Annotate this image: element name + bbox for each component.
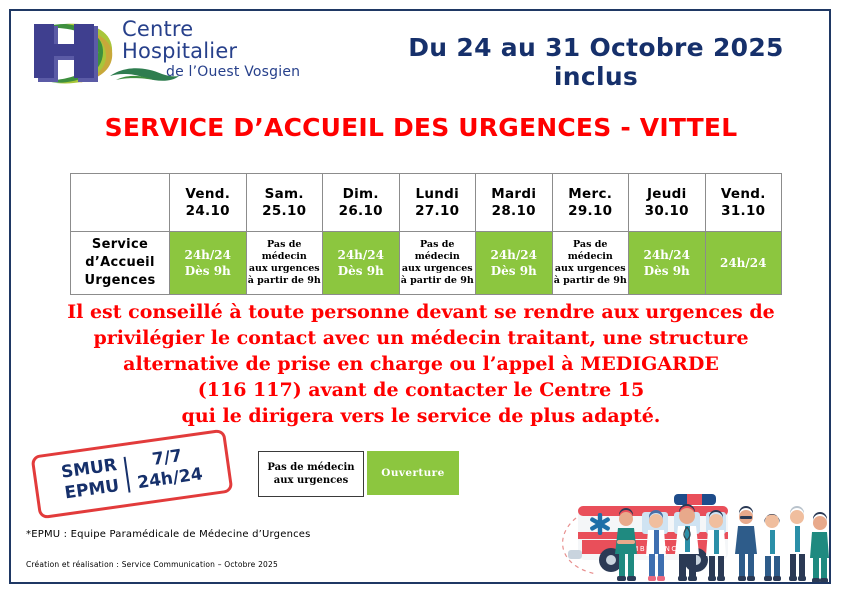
poster-page: Centre Hospitalier de l’Ouest Vosgien Du… xyxy=(0,0,842,595)
advisory-line: Il est conseillé à toute personne devant… xyxy=(30,299,812,325)
day-header-cell: Dim. 26.10 xyxy=(323,174,400,232)
cell-line: Dès 9h xyxy=(476,263,552,279)
cell-line: Dès 9h xyxy=(323,263,399,279)
cell-line: à partir de 9h xyxy=(400,275,476,287)
cell-line: à partir de 9h xyxy=(553,275,629,287)
schedule-body: Service d’Accueil Urgences 24h/24 Dès 9h… xyxy=(71,232,782,295)
day-date: 24.10 xyxy=(170,203,246,220)
schedule-cell-open: 24h/24 Dès 9h xyxy=(170,232,247,295)
day-name: Mardi xyxy=(476,186,552,203)
cell-line: 24h/24 xyxy=(323,247,399,263)
row-header-cell: Service d’Accueil Urgences xyxy=(71,232,170,295)
legend-closed-swatch: Pas de médecin aux urgences xyxy=(258,451,364,497)
cell-line: médecin xyxy=(400,251,476,263)
ambulance-staff-illustration: AMBULANCE xyxy=(556,484,832,582)
day-header-cell: Lundi 27.10 xyxy=(399,174,476,232)
day-date: 26.10 xyxy=(323,203,399,220)
cell-line: aux urgences xyxy=(553,263,629,275)
schedule-cell-closed: Pas de médecin aux urgences à partir de … xyxy=(552,232,629,295)
page-title: SERVICE D’ACCUEIL DES URGENCES - VITTEL xyxy=(20,113,822,142)
schedule-cell-closed: Pas de médecin aux urgences à partir de … xyxy=(399,232,476,295)
day-name: Jeudi xyxy=(629,186,705,203)
cell-line: 24h/24 xyxy=(629,247,705,263)
schedule-cell-open: 24h/24 xyxy=(705,232,782,295)
day-name: Merc. xyxy=(553,186,629,203)
footnote-credit: Création et réalisation : Service Commun… xyxy=(26,560,278,569)
day-header-cell: Mardi 28.10 xyxy=(476,174,553,232)
advisory-text: Il est conseillé à toute personne devant… xyxy=(30,299,812,429)
day-date: 29.10 xyxy=(553,203,629,220)
day-date: 27.10 xyxy=(400,203,476,220)
cell-line: 24h/24 xyxy=(170,247,246,263)
day-header-cell: Jeudi 30.10 xyxy=(629,174,706,232)
schedule-cell-closed: Pas de médecin aux urgences à partir de … xyxy=(246,232,323,295)
logo-line-2: Hospitalier xyxy=(122,40,332,62)
stamp-right-column: 7/7 24h/24 xyxy=(125,442,212,495)
cell-line: Pas de xyxy=(400,239,476,251)
day-name: Sam. xyxy=(247,186,323,203)
legend-open-label: Ouverture xyxy=(381,467,444,479)
table-row: Service d’Accueil Urgences 24h/24 Dès 9h… xyxy=(71,232,782,295)
schedule-cell-open: 24h/24 Dès 9h xyxy=(476,232,553,295)
legend-open-swatch: Ouverture xyxy=(367,451,459,495)
cell-line: Dès 9h xyxy=(629,263,705,279)
leaf-swoosh-icon xyxy=(110,64,180,86)
day-date: 30.10 xyxy=(629,203,705,220)
cell-line: à partir de 9h xyxy=(247,275,323,287)
logo-mark-icon xyxy=(26,20,118,88)
cell-line: Pas de xyxy=(247,239,323,251)
day-date: 31.10 xyxy=(706,203,782,220)
day-date: 25.10 xyxy=(247,203,323,220)
advisory-line: alternative de prise en charge ou l’appe… xyxy=(30,351,812,377)
row-label-line: d’Accueil xyxy=(71,254,169,272)
row-label-line: Service xyxy=(71,236,169,254)
cell-line: Pas de xyxy=(553,239,629,251)
day-name: Vend. xyxy=(170,186,246,203)
stamp-left-column: SMUR EPMU xyxy=(52,454,129,506)
logo-line-1: Centre xyxy=(122,18,332,40)
cell-line: Dès 9h xyxy=(170,263,246,279)
day-header-cell: Merc. 29.10 xyxy=(552,174,629,232)
day-date: 28.10 xyxy=(476,203,552,220)
advisory-line: privilégier le contact avec un médecin t… xyxy=(30,325,812,351)
day-name: Vend. xyxy=(706,186,782,203)
schedule-cell-open: 24h/24 Dès 9h xyxy=(323,232,400,295)
legend-closed-label: Pas de médecin aux urgences xyxy=(267,461,354,487)
cell-line: médecin xyxy=(553,251,629,263)
table-corner-cell xyxy=(71,174,170,232)
cell-line: 24h/24 xyxy=(476,247,552,263)
advisory-line: (116 117) avant de contacter le Centre 1… xyxy=(30,377,812,403)
day-name: Dim. xyxy=(323,186,399,203)
cell-line: 24h/24 xyxy=(706,255,782,271)
hospital-logo: Centre Hospitalier de l’Ouest Vosgien xyxy=(26,18,326,90)
advisory-line: qui le dirigera vers le service de plus … xyxy=(30,403,812,429)
day-header-cell: Vend. 24.10 xyxy=(170,174,247,232)
table-header-row: Vend. 24.10 Sam. 25.10 Dim. 26.10 xyxy=(71,174,782,232)
schedule-table: Vend. 24.10 Sam. 25.10 Dim. 26.10 xyxy=(70,173,782,295)
legend-closed-line: Pas de médecin xyxy=(267,462,354,473)
day-header-cell: Sam. 25.10 xyxy=(246,174,323,232)
day-header-cell: Vend. 31.10 xyxy=(705,174,782,232)
schedule-head: Vend. 24.10 Sam. 25.10 Dim. 26.10 xyxy=(71,174,782,232)
legend-closed-line: aux urgences xyxy=(274,475,348,486)
row-label-line: Urgences xyxy=(71,272,169,290)
logo-line-3: de l’Ouest Vosgien xyxy=(166,64,332,80)
cell-line: aux urgences xyxy=(247,263,323,275)
date-range-heading: Du 24 au 31 Octobre 2025 inclus xyxy=(380,33,812,91)
cell-line: aux urgences xyxy=(400,263,476,275)
cell-line: médecin xyxy=(247,251,323,263)
schedule-cell-open: 24h/24 Dès 9h xyxy=(629,232,706,295)
day-name: Lundi xyxy=(400,186,476,203)
footnote-epmu: *EPMU : Equipe Paramédicale de Médecine … xyxy=(26,529,311,540)
